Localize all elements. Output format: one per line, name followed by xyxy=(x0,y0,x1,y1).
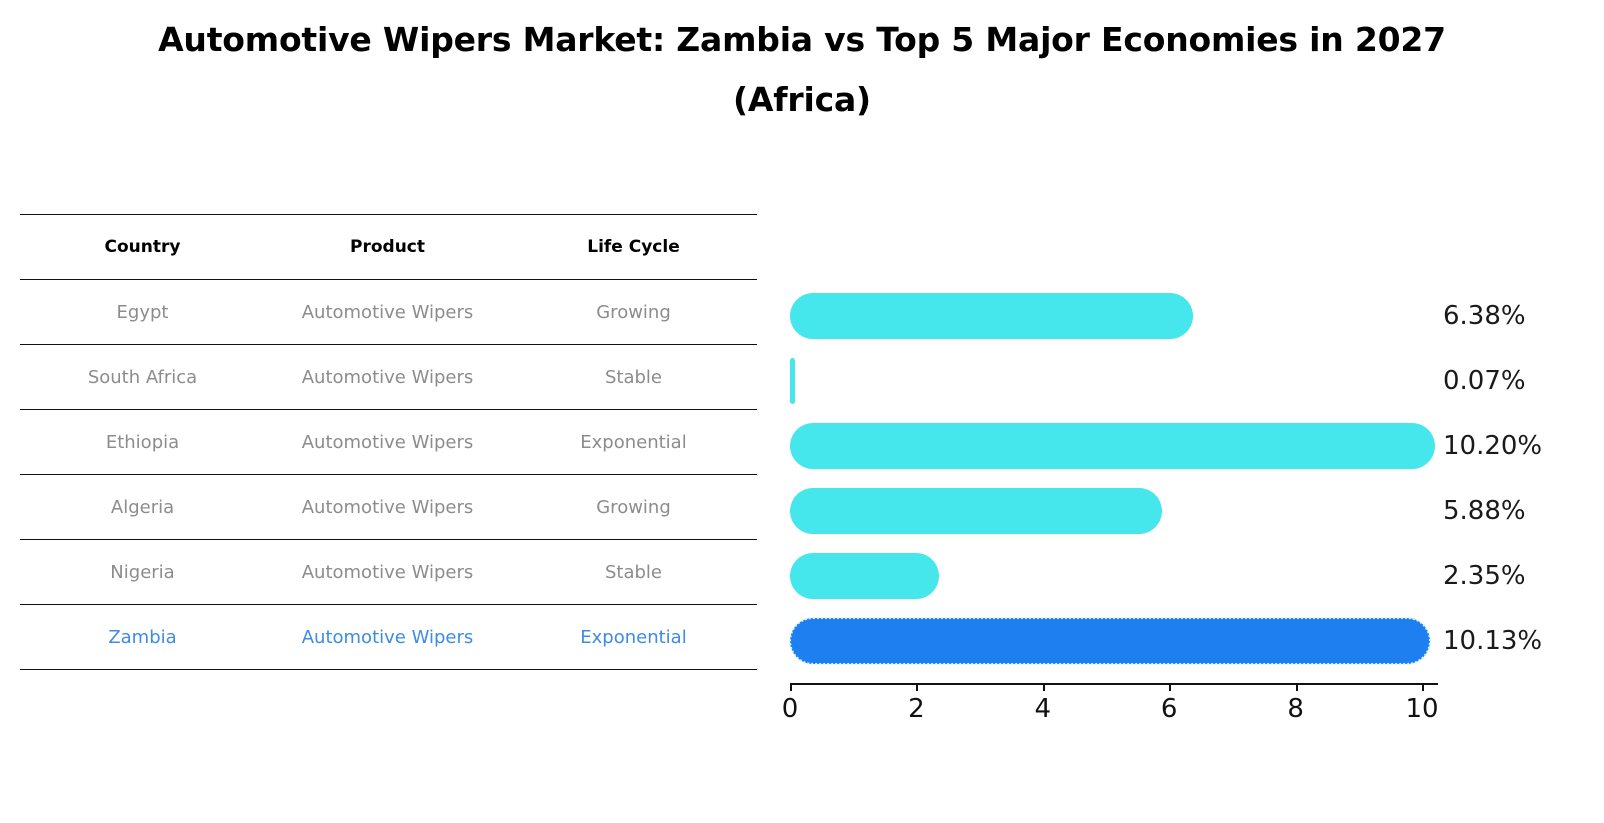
bar-nigeria[interactable] xyxy=(790,553,939,599)
table-cell-life-cycle: Exponential xyxy=(510,410,757,475)
page-title-line-1: Automotive Wipers Market: Zambia vs Top … xyxy=(0,10,1604,70)
bar-value-label: 5.88% xyxy=(1443,488,1526,534)
x-axis-tick xyxy=(916,683,918,691)
x-axis-tick-label: 6 xyxy=(1161,694,1178,724)
table-cell-country: Zambia xyxy=(20,605,265,670)
bar-row xyxy=(790,293,1193,339)
column-header-product: Product xyxy=(265,215,510,280)
bar-row xyxy=(790,488,1162,534)
x-axis-tick-label: 0 xyxy=(782,694,799,724)
x-axis-tick xyxy=(1043,683,1045,691)
table-row[interactable]: AlgeriaAutomotive WipersGrowing xyxy=(20,475,757,540)
bar-row xyxy=(790,553,939,599)
chart-title-block: Automotive Wipers Market: Zambia vs Top … xyxy=(0,10,1604,130)
table-cell-life-cycle: Stable xyxy=(510,345,757,410)
table-footer-cell xyxy=(20,670,757,700)
bar-south-africa[interactable] xyxy=(790,358,795,404)
column-header-life-cycle: Life Cycle xyxy=(510,215,757,280)
table-cell-product: Automotive Wipers xyxy=(265,605,510,670)
table-cell-life-cycle: Growing xyxy=(510,280,757,345)
bar-row xyxy=(790,358,795,404)
bar-algeria[interactable] xyxy=(790,488,1162,534)
market-table-body: EgyptAutomotive WipersGrowingSouth Afric… xyxy=(20,280,757,700)
bar-value-label: 10.20% xyxy=(1443,423,1542,469)
column-header-country: Country xyxy=(20,215,265,280)
x-axis-tick-label: 10 xyxy=(1405,694,1438,724)
table-cell-country: Algeria xyxy=(20,475,265,540)
table-cell-product: Automotive Wipers xyxy=(265,410,510,475)
bar-row xyxy=(790,423,1435,469)
x-axis-tick xyxy=(1169,683,1171,691)
table-row[interactable]: EgyptAutomotive WipersGrowing xyxy=(20,280,757,345)
table-cell-country: Egypt xyxy=(20,280,265,345)
table-cell-country: South Africa xyxy=(20,345,265,410)
x-axis-line xyxy=(790,683,1438,685)
table-header-row: Country Product Life Cycle xyxy=(20,215,757,280)
bar-ethiopia[interactable] xyxy=(790,423,1435,469)
table-cell-product: Automotive Wipers xyxy=(265,475,510,540)
table-cell-life-cycle: Exponential xyxy=(510,605,757,670)
table-row[interactable]: EthiopiaAutomotive WipersExponential xyxy=(20,410,757,475)
table-cell-country: Nigeria xyxy=(20,540,265,605)
x-axis-tick xyxy=(790,683,792,691)
page-title-line-2: (Africa) xyxy=(0,70,1604,130)
bar-egypt[interactable] xyxy=(790,293,1193,339)
market-table: Country Product Life Cycle EgyptAutomoti… xyxy=(20,214,757,700)
table-cell-life-cycle: Stable xyxy=(510,540,757,605)
bar-value-label: 10.13% xyxy=(1443,618,1542,664)
bar-zambia[interactable] xyxy=(790,618,1430,664)
x-axis-tick-label: 8 xyxy=(1287,694,1304,724)
table-row[interactable]: South AfricaAutomotive WipersStable xyxy=(20,345,757,410)
table-cell-product: Automotive Wipers xyxy=(265,345,510,410)
bar-value-label: 2.35% xyxy=(1443,553,1526,599)
x-axis-tick xyxy=(1422,683,1424,691)
table-row[interactable]: ZambiaAutomotive WipersExponential xyxy=(20,605,757,670)
market-table-panel: Country Product Life Cycle EgyptAutomoti… xyxy=(20,214,757,700)
x-axis-tick xyxy=(1296,683,1298,691)
bar-value-label: 0.07% xyxy=(1443,358,1526,404)
table-cell-product: Automotive Wipers xyxy=(265,540,510,605)
table-row[interactable]: NigeriaAutomotive WipersStable xyxy=(20,540,757,605)
x-axis-tick-label: 2 xyxy=(908,694,925,724)
table-footer-rule xyxy=(20,670,757,700)
x-axis-tick-label: 4 xyxy=(1035,694,1052,724)
table-cell-country: Ethiopia xyxy=(20,410,265,475)
bar-row xyxy=(790,618,1430,664)
table-cell-life-cycle: Growing xyxy=(510,475,757,540)
table-cell-product: Automotive Wipers xyxy=(265,280,510,345)
bar-value-label: 6.38% xyxy=(1443,293,1526,339)
